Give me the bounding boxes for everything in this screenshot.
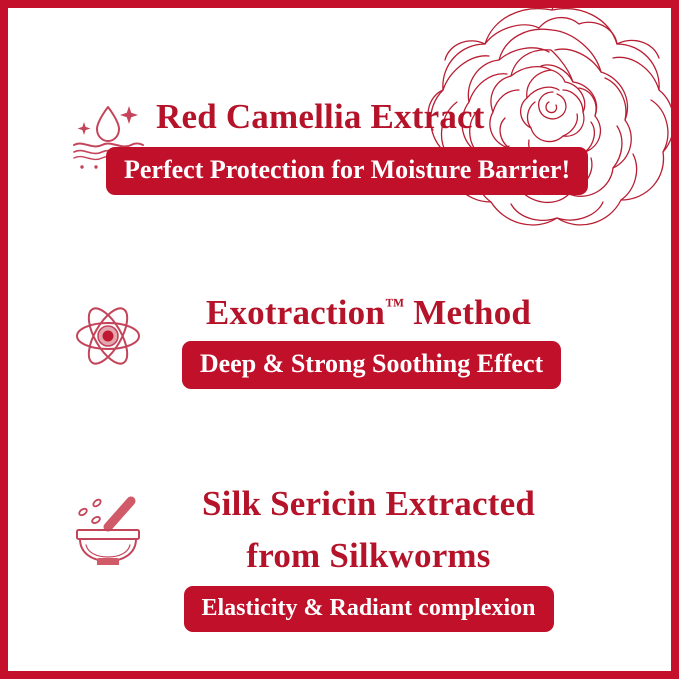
feature-3-title-line1: Silk Sericin Extracted — [202, 483, 535, 526]
feature-item-silk-sericin: Silk Sericin Extracted from Silkworms El… — [0, 483, 679, 632]
feature-3-badge: Elasticity & Radiant complexion — [184, 586, 554, 632]
feature-1-badge: Perfect Protection for Moisture Barrier! — [106, 147, 588, 195]
mortar-and-pestle-icon — [62, 483, 154, 565]
product-feature-poster: Red Camellia Extract Perfect Protection … — [0, 0, 679, 679]
feature-2-title-main: Exotraction — [206, 293, 385, 332]
trademark-symbol: ™ — [385, 295, 404, 316]
atom-icon — [62, 292, 154, 370]
feature-2-badge: Deep & Strong Soothing Effect — [182, 341, 561, 389]
feature-list: Red Camellia Extract Perfect Protection … — [0, 0, 679, 679]
feature-2-title-rest: Method — [413, 293, 531, 332]
feature-3-text: Silk Sericin Extracted from Silkworms El… — [154, 483, 679, 632]
feature-1-text: Red Camellia Extract Perfect Protection … — [154, 96, 679, 195]
feature-1-title: Red Camellia Extract — [156, 96, 485, 139]
feature-3-title-line2: from Silkworms — [246, 535, 490, 578]
feature-item-exotraction-method: Exotraction™ Method Deep & Strong Soothi… — [0, 292, 679, 389]
feature-2-title: Exotraction™ Method — [206, 292, 531, 335]
feature-2-text: Exotraction™ Method Deep & Strong Soothi… — [154, 292, 679, 389]
feature-item-red-camellia-extract: Red Camellia Extract Perfect Protection … — [0, 96, 679, 195]
